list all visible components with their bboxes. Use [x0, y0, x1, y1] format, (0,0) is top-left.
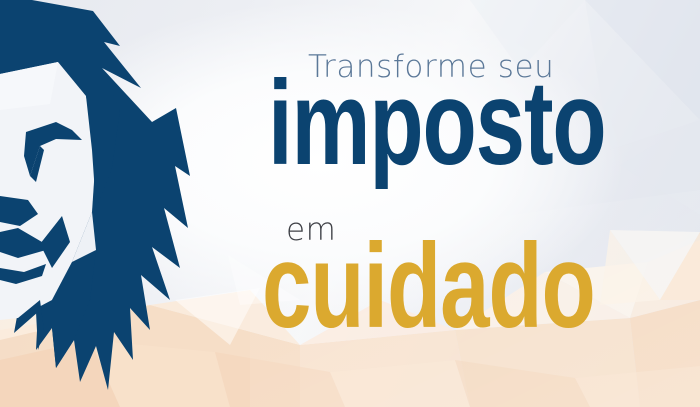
headline-word-cuidado: cuidado [262, 226, 595, 346]
lion-icon [0, 0, 232, 407]
headline-block: Transforme seu imposto em cuidado [266, 0, 686, 407]
lion-head-illustration [0, 0, 232, 407]
promo-banner: Transforme seu imposto em cuidado [0, 0, 700, 407]
headline-word-imposto: imposto [268, 63, 606, 183]
